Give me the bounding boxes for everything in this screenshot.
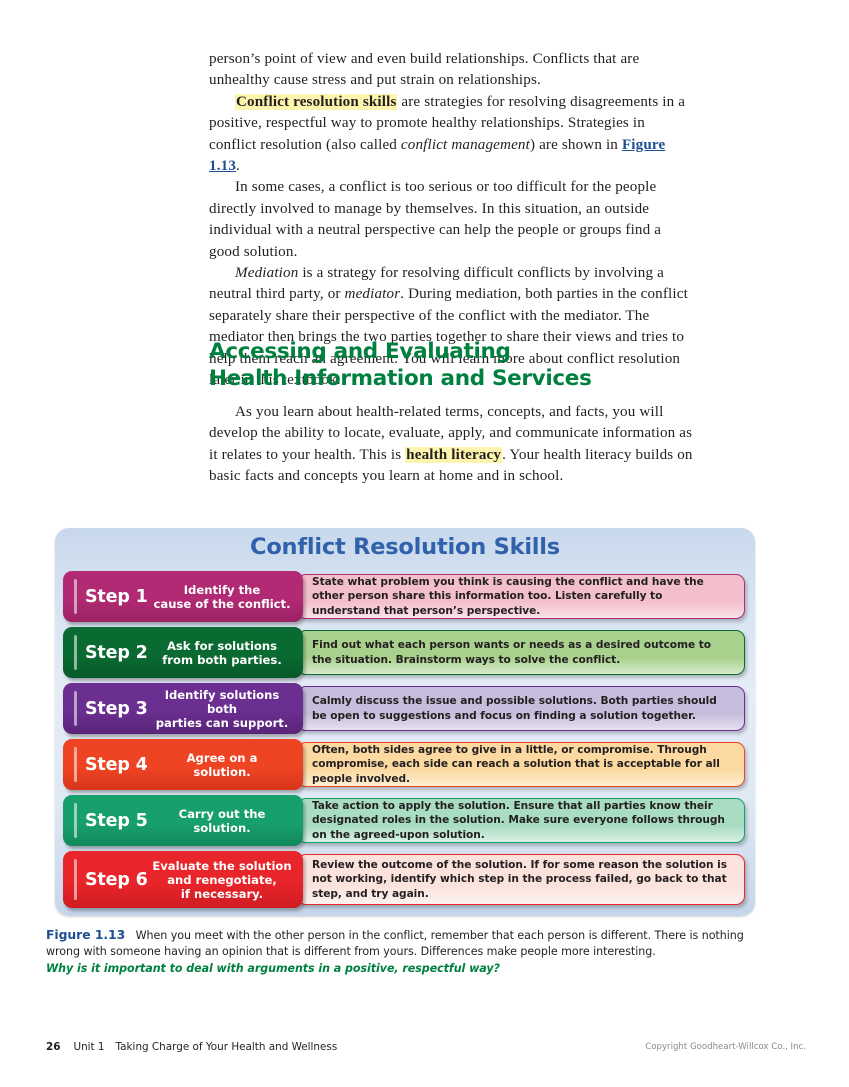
figure-caption-question: Why is it important to deal with argumen…: [46, 961, 758, 977]
figure-step-label-block: Step 5Carry out thesolution.: [63, 795, 303, 846]
page-number: 26: [46, 1041, 60, 1053]
figure-step-title: Agree on asolution.: [151, 751, 303, 779]
figure-step-number: Step 2: [63, 643, 151, 663]
figure-step-description-block: Calmly discuss the issue and possible so…: [297, 686, 745, 731]
italic-term: conflict management: [401, 137, 530, 153]
figure-step-description-block: Take action to apply the solution. Ensur…: [297, 798, 745, 843]
figure-step-title: Ask for solutionsfrom both parties.: [151, 639, 303, 667]
footer-copyright: Copyright Goodheart-Willcox Co., Inc.: [645, 1042, 806, 1052]
figure-step-number: Step 1: [63, 587, 151, 607]
figure-step-row: Take action to apply the solution. Ensur…: [55, 795, 755, 846]
figure-step-label-block: Step 3Identify solutions bothparties can…: [63, 683, 303, 734]
figure-step-label-block: Step 2Ask for solutionsfrom both parties…: [63, 627, 303, 678]
figure-step-title: Evaluate the solutionand renegotiate,if …: [151, 859, 303, 901]
paragraph: In some cases, a conflict is too serious…: [209, 177, 691, 263]
figure-step-row: Calmly discuss the issue and possible so…: [55, 683, 755, 734]
paragraph-list-section: As you learn about health-related terms,…: [209, 402, 699, 488]
figure-step-label-block: Step 6Evaluate the solutionand renegotia…: [63, 851, 303, 908]
figure-step-description: Calmly discuss the issue and possible so…: [312, 694, 734, 722]
page-footer: 26Unit 1Taking Charge of Your Health and…: [46, 1041, 806, 1057]
highlighted-term: health literacy: [405, 447, 502, 463]
figure-caption-text: When you meet with the other person in t…: [46, 929, 744, 958]
figure-step-description: Take action to apply the solution. Ensur…: [312, 799, 734, 842]
italic-term: mediator: [345, 286, 401, 302]
figure-step-row: State what problem you think is causing …: [55, 571, 755, 622]
text-run: ) are shown in: [530, 137, 622, 153]
figure-step-label-block: Step 1Identify thecause of the conflict.: [63, 571, 303, 622]
section-heading-line-1: Accessing and Evaluating: [209, 338, 709, 365]
figure-step-title: Identify solutions bothparties can suppo…: [151, 688, 303, 730]
figure-step-description: Often, both sides agree to give in a lit…: [312, 743, 734, 786]
figure-step-description-block: Review the outcome of the solution. If f…: [297, 854, 745, 905]
figure-step-title: Carry out thesolution.: [151, 807, 303, 835]
figure-caption-label: Figure 1.13: [46, 927, 125, 942]
figure-step-row: Find out what each person wants or needs…: [55, 627, 755, 678]
figure-caption: Figure 1.13 When you meet with the other…: [46, 927, 758, 976]
body-text-section: As you learn about health-related terms,…: [209, 402, 699, 488]
footer-unit: Unit 1: [73, 1041, 104, 1053]
figure-step-title: Identify thecause of the conflict.: [151, 583, 303, 611]
text-run: In some cases, a conflict is too serious…: [209, 179, 661, 259]
figure-step-description: Find out what each person wants or needs…: [312, 638, 734, 666]
figure-step-row: Often, both sides agree to give in a lit…: [55, 739, 755, 790]
figure-step-number: Step 3: [63, 699, 151, 719]
paragraph: Conflict resolution skills are strategie…: [209, 92, 691, 178]
figure-step-number: Step 4: [63, 755, 151, 775]
text-run: .: [236, 158, 240, 174]
figure-title: Conflict Resolution Skills: [55, 534, 755, 560]
text-run: person’s point of view and even build re…: [209, 51, 639, 88]
paragraph: person’s point of view and even build re…: [209, 49, 691, 92]
figure-step-label-block: Step 4Agree on asolution.: [63, 739, 303, 790]
figure-caption-spacer: [125, 929, 135, 942]
section-heading-line-2: Health Information and Services: [209, 365, 709, 392]
footer-unit-title: Taking Charge of Your Health and Wellnes…: [116, 1041, 338, 1053]
figure-step-description-block: State what problem you think is causing …: [297, 574, 745, 619]
figure-conflict-resolution-skills: Conflict Resolution Skills State what pr…: [55, 528, 755, 916]
paragraph: As you learn about health-related terms,…: [209, 402, 699, 488]
figure-step-row: Review the outcome of the solution. If f…: [55, 851, 755, 908]
figure-step-number: Step 5: [63, 811, 151, 831]
figure-step-list: State what problem you think is causing …: [55, 571, 755, 908]
figure-step-description-block: Find out what each person wants or needs…: [297, 630, 745, 675]
figure-step-description: Review the outcome of the solution. If f…: [312, 858, 734, 901]
figure-step-number: Step 6: [63, 870, 151, 890]
highlighted-term: Conflict resolution skills: [235, 94, 397, 110]
figure-step-description-block: Often, both sides agree to give in a lit…: [297, 742, 745, 787]
italic-term: Mediation: [235, 265, 298, 281]
section-heading: Accessing and Evaluating Health Informat…: [209, 338, 709, 392]
figure-step-description: State what problem you think is causing …: [312, 575, 734, 618]
